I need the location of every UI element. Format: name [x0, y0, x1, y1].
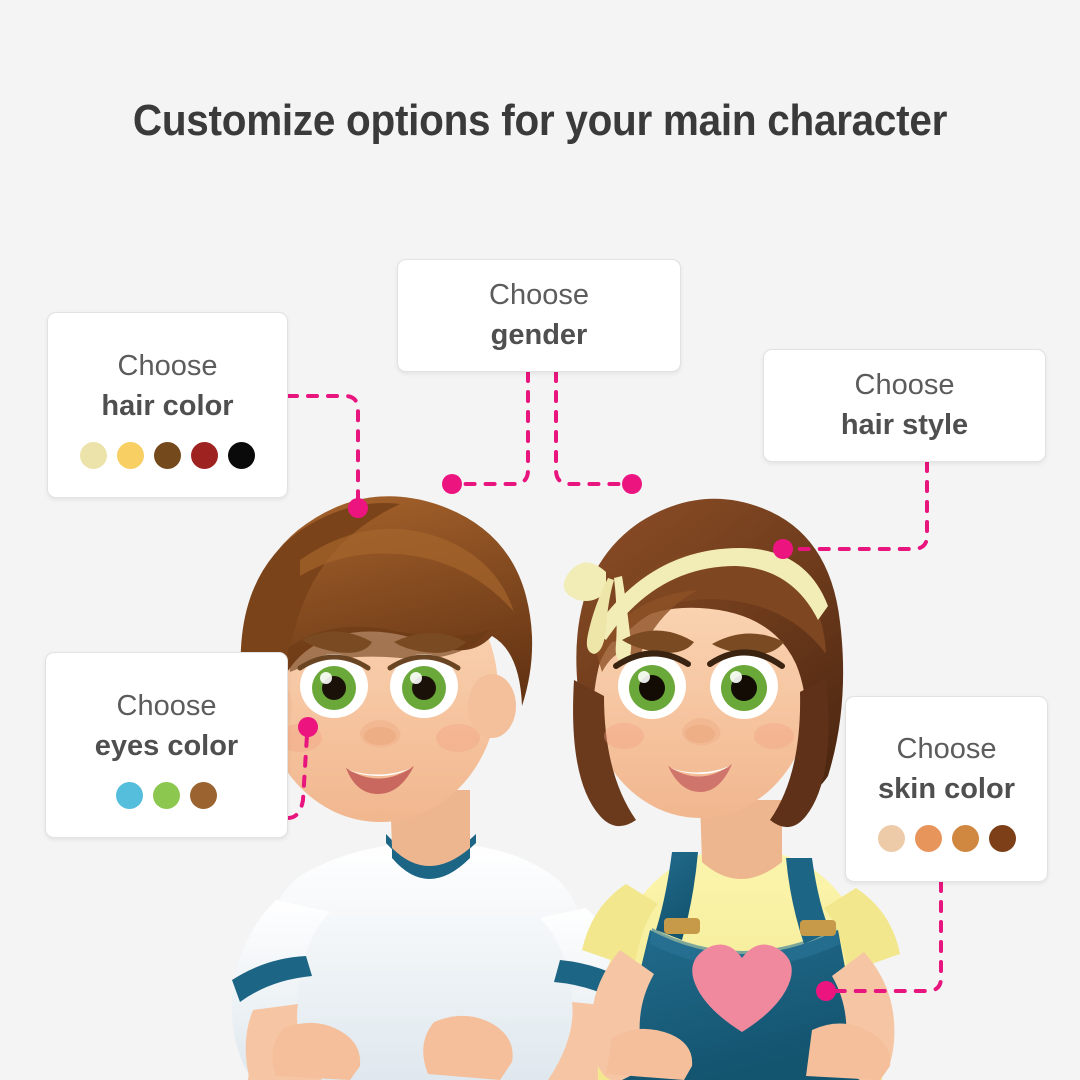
swatch-eyes-green[interactable] [153, 782, 180, 809]
card-skin-color-line2: skin color [878, 770, 1015, 809]
swatch-skin-medium[interactable] [952, 825, 979, 852]
swatch-skin-tan[interactable] [915, 825, 942, 852]
card-eyes-color[interactable]: Choose eyes color [45, 652, 288, 838]
card-skin-color[interactable]: Choose skin color [845, 696, 1048, 882]
card-gender[interactable]: Choose gender [397, 259, 681, 372]
swatch-eyes-brown[interactable] [190, 782, 217, 809]
hair-color-swatches [80, 442, 255, 469]
swatch-hair-auburn-red[interactable] [191, 442, 218, 469]
card-gender-line1: Choose [489, 276, 589, 315]
card-hair-style[interactable]: Choose hair style [763, 349, 1046, 462]
card-skin-color-line1: Choose [897, 730, 997, 769]
card-eyes-color-line1: Choose [117, 687, 217, 726]
card-hair-color[interactable]: Choose hair color [47, 312, 288, 498]
boy-eye-right [390, 654, 458, 718]
swatch-hair-pale-blonde[interactable] [80, 442, 107, 469]
card-hair-style-line1: Choose [855, 366, 955, 405]
boy-eye-left [300, 654, 368, 718]
swatch-skin-dark[interactable] [989, 825, 1016, 852]
card-eyes-color-line2: eyes color [95, 727, 238, 766]
swatch-hair-golden-blonde[interactable] [117, 442, 144, 469]
card-gender-line2: gender [491, 316, 588, 355]
swatch-skin-light[interactable] [878, 825, 905, 852]
swatch-hair-brown[interactable] [154, 442, 181, 469]
screenshot-canvas: Customize options for your main characte… [0, 0, 1080, 1080]
swatch-eyes-blue[interactable] [116, 782, 143, 809]
swatch-hair-black[interactable] [228, 442, 255, 469]
character-illustration [0, 0, 1080, 1080]
eyes-color-swatches [116, 782, 217, 809]
card-hair-color-line1: Choose [118, 347, 218, 386]
skin-color-swatches [878, 825, 1016, 852]
card-hair-style-line2: hair style [841, 406, 968, 445]
card-hair-color-line2: hair color [101, 387, 233, 426]
